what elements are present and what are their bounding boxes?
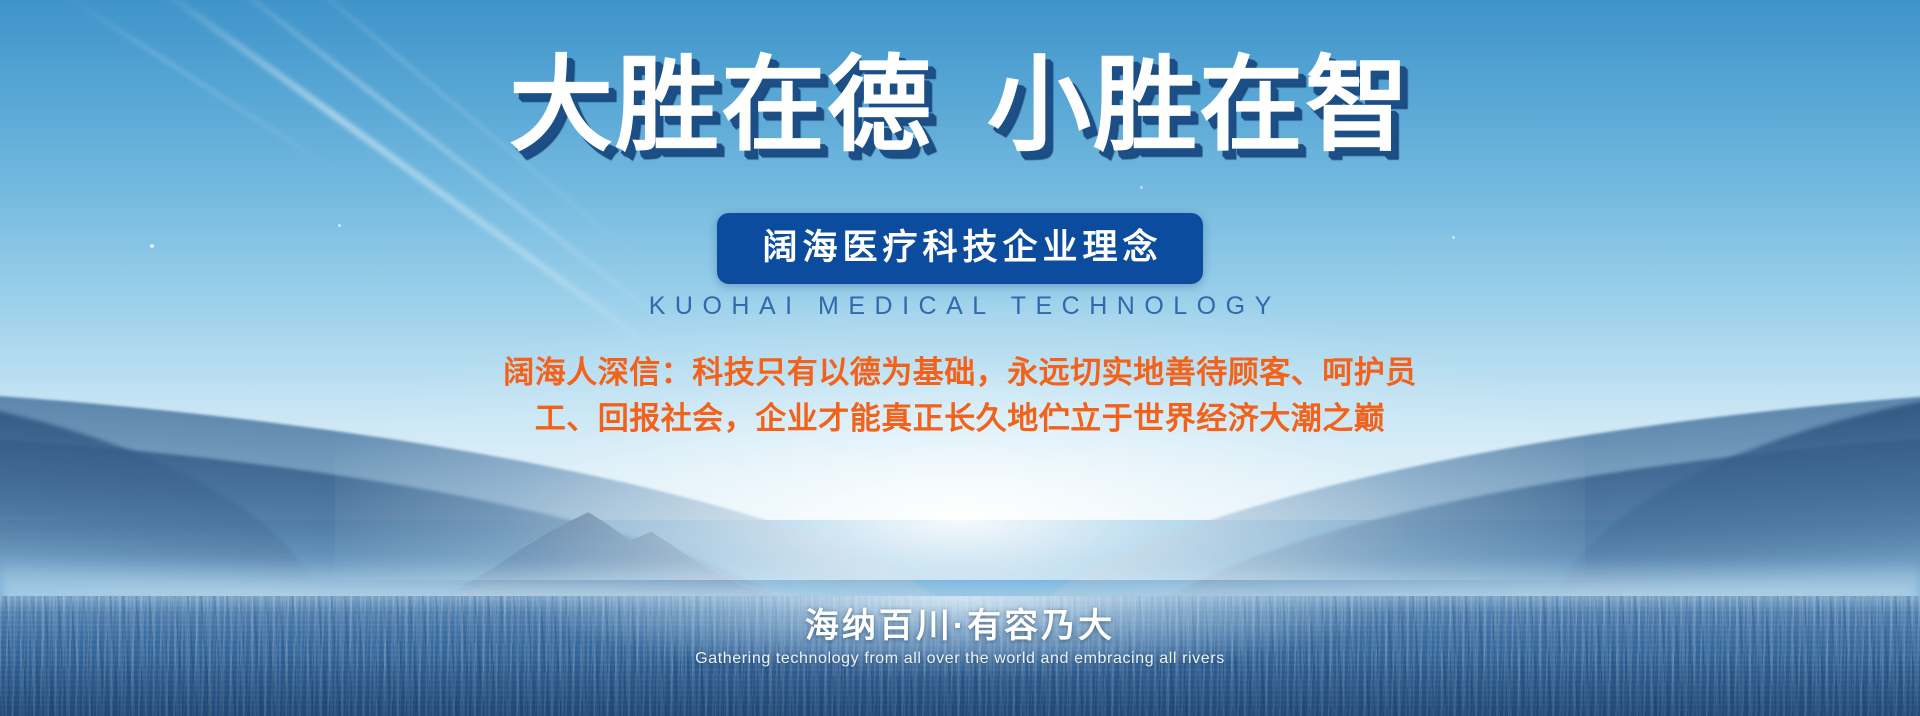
headline-left: 大胜在德 [509, 48, 933, 164]
statement-block: 阔海人深信：科技只有以德为基础，永远切实地善待顾客、呵护员 工、回报社会，企业才… [0, 350, 1920, 442]
badge-container: 阔海医疗科技企业理念 [0, 213, 1920, 284]
english-subtitle: KUOHAI MEDICAL TECHNOLOGY [0, 292, 1920, 321]
headline-right: 小胜在智 [987, 48, 1411, 164]
company-philosophy-badge: 阔海医疗科技企业理念 [717, 213, 1202, 284]
headline: 大胜在德小胜在智 [0, 48, 1920, 164]
hero-banner: 大胜在德小胜在智 阔海医疗科技企业理念 KUOHAI MEDICAL TECHN… [0, 0, 1920, 716]
footer-slogan-english: Gathering technology from all over the w… [0, 650, 1920, 668]
statement-line-2: 工、回报社会，企业才能真正长久地伫立于世界经济大潮之巅 [0, 396, 1920, 442]
footer-slogan-chinese: 海纳百川·有容乃大 [0, 598, 1920, 647]
statement-line-1: 阔海人深信：科技只有以德为基础，永远切实地善待顾客、呵护员 [0, 350, 1920, 396]
banner-content: 大胜在德小胜在智 阔海医疗科技企业理念 KUOHAI MEDICAL TECHN… [0, 0, 1920, 716]
